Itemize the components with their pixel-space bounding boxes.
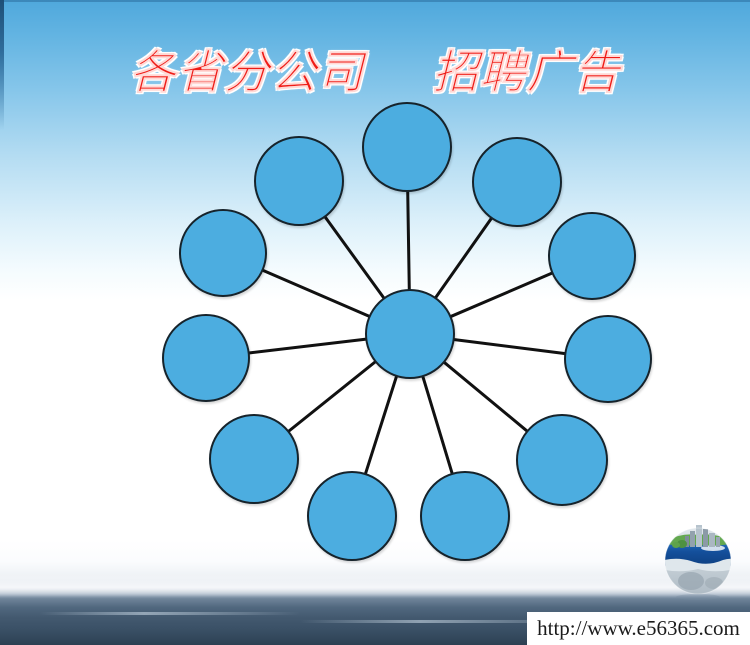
diagram-node-left-upper[interactable] (179, 209, 267, 297)
spoke-line-2 (324, 216, 384, 299)
diagram-node-bottom-right[interactable] (420, 471, 510, 561)
diagram-node-left-mid[interactable] (162, 314, 250, 402)
spoke-line-11 (422, 375, 452, 475)
diagram-node-lower-right[interactable] (516, 414, 608, 506)
diagram-node-upper-left[interactable] (254, 136, 344, 226)
spoke-line-1 (408, 190, 410, 291)
globe-city-logo (657, 521, 739, 601)
diagram-node-right-mid[interactable] (564, 315, 652, 403)
diagram-node-lower-left[interactable] (209, 414, 299, 504)
spoke-line-4 (262, 270, 371, 317)
diagram-node-bottom-left[interactable] (307, 471, 397, 561)
diagram-node-upper-right[interactable] (472, 137, 562, 227)
diagram-node-top[interactable] (362, 102, 452, 192)
watermark-url-box: http://www.e56365.com (527, 612, 750, 645)
diagram-node-right-upper[interactable] (548, 212, 636, 300)
spoke-line-8 (288, 361, 377, 432)
spoke-line-6 (248, 339, 368, 353)
slide-canvas: 各省分公司 招聘广告 (0, 0, 750, 645)
spoke-line-3 (435, 217, 492, 299)
spoke-line-10 (365, 375, 397, 475)
spoke-line-9 (443, 361, 528, 431)
watermark-url-text: http://www.e56365.com (537, 616, 740, 641)
spoke-line-7 (453, 339, 567, 353)
diagram-hub-circle[interactable] (365, 289, 455, 379)
spoke-line-5 (450, 273, 554, 318)
